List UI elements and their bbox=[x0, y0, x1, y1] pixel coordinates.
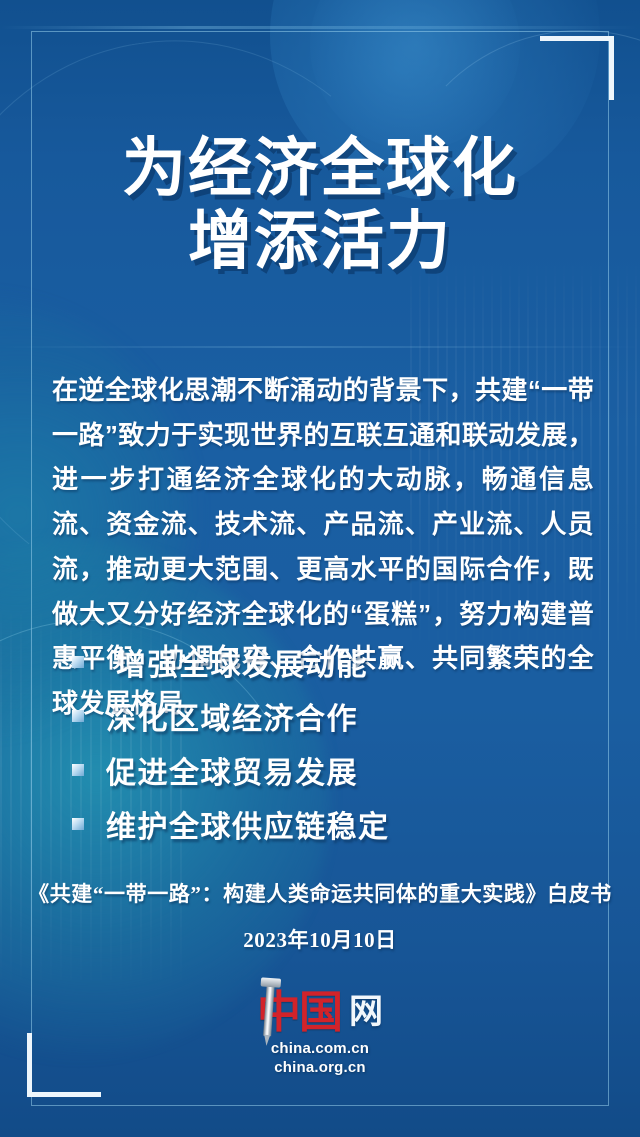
list-item: 促进全球贸易发展 bbox=[72, 744, 600, 796]
title-line-1: 为经济全球化 bbox=[0, 132, 640, 205]
title-line-2: 增添活力 bbox=[0, 205, 640, 278]
list-item: 维护全球供应链稳定 bbox=[72, 798, 600, 850]
bullet-square-icon bbox=[72, 710, 84, 722]
bullet-square-icon bbox=[72, 764, 84, 776]
bullet-label: 深化区域经济合作 bbox=[106, 694, 358, 738]
page-title: 为经济全球化 增添活力 bbox=[0, 132, 640, 278]
list-item: 增强全球发展动能 bbox=[72, 636, 600, 688]
poster-content: 为经济全球化 增添活力 在逆全球化思潮不断涌动的背景下，共建“一带一路”致力于实… bbox=[0, 0, 640, 1137]
bullet-square-icon bbox=[72, 656, 84, 668]
bullet-label: 维护全球供应链稳定 bbox=[106, 802, 390, 846]
source-citation: 《共建“一带一路”：构建人类命运共同体的重大实践》白皮书 bbox=[0, 878, 640, 908]
china-net-logo: 中国 网 china.com.cn china.org.cn bbox=[0, 988, 640, 1078]
list-item: 深化区域经济合作 bbox=[72, 690, 600, 742]
logo-url-secondary: china.org.cn bbox=[271, 1059, 369, 1078]
logo-wang-character: 网 bbox=[349, 996, 383, 1030]
bullet-list: 增强全球发展动能 深化区域经济合作 促进全球贸易发展 维护全球供应链稳定 bbox=[72, 636, 600, 852]
logo-urls: china.com.cn china.org.cn bbox=[271, 1040, 369, 1078]
logo-url-primary: china.com.cn bbox=[271, 1040, 369, 1059]
publication-date: 2023年10月10日 bbox=[0, 924, 640, 954]
bullet-square-icon bbox=[72, 818, 84, 830]
bullet-label: 促进全球贸易发展 bbox=[106, 748, 358, 792]
poster-canvas: 为经济全球化 增添活力 在逆全球化思潮不断涌动的背景下，共建“一带一路”致力于实… bbox=[0, 0, 640, 1137]
bullet-label: 增强全球发展动能 bbox=[116, 640, 368, 684]
logo-marks: 中国 网 bbox=[257, 988, 383, 1038]
